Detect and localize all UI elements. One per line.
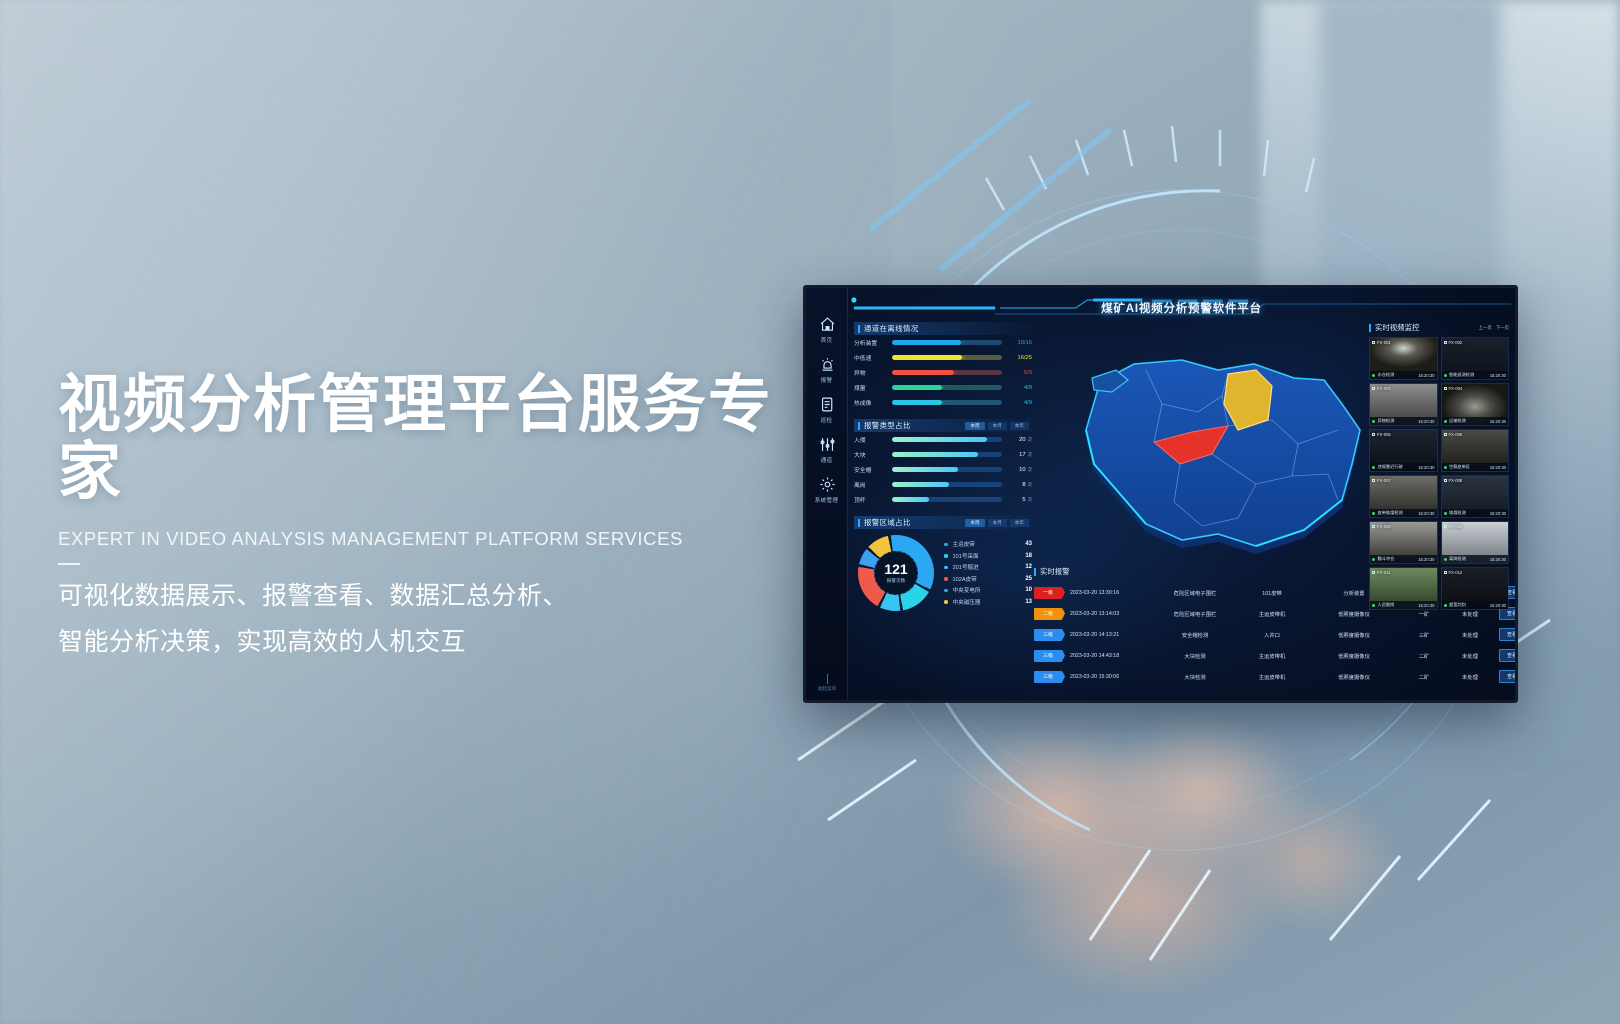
sidebar-label-home: 首页 [806,336,847,344]
realtime-alarm-title: 实时报警 [1040,566,1070,577]
legend-item: 中央磁压器 13 [944,596,1032,608]
sidebar-label-alarm: 报警 [806,376,847,384]
video-camera-id: FX-010 [1444,524,1463,529]
legend-label: 102A皮带 [953,575,1026,583]
table-row[interactable]: 三级 2023-03-20 15:30:06 大块检测 主运皮带机 低照度摄像仪… [1034,666,1515,687]
video-grid: FX-001 水仓检测 15:20:30 FX-002 智能巡测检测 15:20… [1369,337,1509,610]
table-row[interactable]: 三级 2023-03-20 14:43:18 大块检测 主运皮带机 低照度摄像仪… [1034,645,1515,666]
range-tab-本年[interactable]: 本年 [1010,519,1029,527]
video-tile-footer: 智能巡测检测 15:20:30 [1442,371,1509,379]
alarm-type-label: 大块 [854,450,892,459]
video-tile-name: 离岗检测 [1449,556,1466,562]
channel-bar-label: 分析装置 [854,338,892,347]
donut-center: 121 报警次数 [874,551,918,595]
dashboard-monitor: 首页 报警 巡检 通道 [803,285,1518,703]
channel-bar-fill [892,400,942,405]
video-tile-time: 15:20:30 [1490,511,1506,516]
legend-value: 43 [1025,541,1032,547]
video-panel-title: 实时视频监控 [1375,322,1419,333]
sidebar-item-inspection[interactable]: 巡检 [806,394,847,424]
alarm-type-bar-list: 入侵 20次 大块 17次 安全帽 10次 离岗 8次 顶杆 5次 [854,432,1032,507]
video-tile-time: 15:20:30 [1418,557,1434,562]
channel-icon [806,434,848,454]
gear-icon [806,474,848,494]
video-panel-header: 实时视频监控 上一页 下一页 [1369,322,1509,333]
alarm-mine: 二矿 [1400,673,1448,681]
video-tile-footer: 翻斗冲仓 15:20:30 [1370,555,1437,563]
video-tile-footer: 离岗检测 15:20:30 [1442,555,1509,563]
video-tile-footer: 违规靠近行驶 15:20:30 [1370,463,1437,471]
range-tab-本月[interactable]: 本月 [988,422,1007,430]
channel-bar-row: 煤量 4/9 [854,380,1032,395]
alarm-level-badge: 二级 [1034,608,1062,620]
channel-bar-fill [892,340,961,345]
channel-bar-track [892,370,1002,375]
sidebar-item-alarm[interactable]: 报警 [806,354,847,384]
video-tile-time: 15:20:30 [1418,603,1434,608]
alarm-status: 未处理 [1448,631,1492,639]
alarm-location: 入井口 [1236,631,1308,639]
alarm-type-value: 5次 [1002,497,1032,503]
dashboard-left-column: 通道在离线情况 分析装置 10/16 中低速 16/25 异物 5/9 煤量 [854,322,1032,620]
view-button[interactable]: 查看 [1499,628,1515,641]
collapse-icon [827,674,828,684]
legend-label: 中央磁压器 [953,598,1026,606]
video-camera-id: FX-007 [1372,478,1391,483]
video-tile-footer: 超宽判别 15:20:30 [1442,601,1509,609]
video-tile[interactable]: FX-002 智能巡测检测 15:20:30 [1441,337,1510,380]
video-tile[interactable]: FX-004 运输检测 15:20:30 [1441,383,1510,426]
alarm-type-value: 10次 [1002,467,1032,473]
header-tick-icon [1369,324,1371,332]
video-tile-name: 智能巡测检测 [1449,372,1474,378]
alarm-type-track [892,497,1002,502]
page-title: 视频分析管理平台服务专家 [58,372,818,506]
alarm-device: 低照度摄像仪 [1308,652,1400,660]
video-tile-time: 15:20:30 [1418,465,1434,470]
channel-bar-track [892,400,1002,405]
alarm-action-cell: 查看 [1492,670,1515,683]
legend-label: 中央变电所 [953,586,1026,594]
legend-color-dot [944,600,948,604]
channel-bar-row: 异物 5/9 [854,365,1032,380]
alarm-type-label: 顶杆 [854,495,892,504]
legend-item: 101号采面 18 [944,550,1032,562]
status-dot-icon [1444,420,1447,423]
channel-bar-track [892,385,1002,390]
video-camera-id: FX-008 [1444,478,1463,483]
alarm-mine: 三矿 [1400,631,1448,639]
alarm-location: 主运皮带机 [1236,673,1308,681]
home-icon [806,314,848,334]
channel-bar-label: 异物 [854,368,892,377]
alarm-time: 2023-03-20 14:43:18 [1070,653,1154,659]
video-next-page[interactable]: 下一页 [1496,325,1509,331]
status-dot-icon [1444,512,1447,515]
status-dot-icon [1444,604,1447,607]
channel-card-header: 通道在离线情况 [854,322,1032,335]
alarm-time: 2023-03-20 14:13:21 [1070,632,1154,638]
donut-total-label: 报警次数 [887,578,905,584]
alarm-type-fill [892,497,929,502]
channel-bar-value: 16/25 [1002,355,1032,361]
video-tile-time: 15:20:30 [1418,373,1434,378]
channel-bar-fill [892,370,954,375]
video-camera-id: FX-011 [1372,570,1390,575]
video-tile[interactable]: FX-010 离岗检测 15:20:30 [1441,521,1510,564]
video-tile[interactable]: FX-006 空载皮带区 15:20:30 [1441,429,1510,472]
header-tick-icon [858,519,860,527]
range-tab-本月[interactable]: 本月 [988,519,1007,527]
legend-label: 主运皮带 [953,540,1026,548]
video-tile-name: 异物检测 [1378,418,1395,424]
alarm-location: 101皮带 [1236,589,1308,597]
alarm-type-value: 20次 [1002,437,1032,443]
channel-bar-value: 4/9 [1002,385,1032,391]
video-tile-name: 皮带堆煤检测 [1378,510,1403,516]
legend-value: 18 [1025,553,1032,559]
status-dot-icon [1444,558,1447,561]
alarm-type-fill [892,482,949,487]
channel-card-title: 通道在离线情况 [864,323,919,334]
video-tile-time: 15:20:30 [1490,373,1506,378]
sidebar-label-inspection: 巡检 [806,416,847,424]
video-tile[interactable]: FX-007 皮带堆煤检测 15:20:30 [1369,475,1438,518]
video-camera-id: FX-004 [1444,386,1463,391]
channel-bar-row: 热成像 4/9 [854,395,1032,410]
hero-description-line-1: 可视化数据展示、报警查看、数据汇总分析、 [58,573,818,619]
alarm-type-value: 17次 [1002,452,1032,458]
video-camera-id: FX-012 [1444,570,1463,575]
legend-color-dot [944,554,948,558]
hero-subtitle: EXPERT IN VIDEO ANALYSIS MANAGEMENT PLAT… [58,528,818,550]
map-svg [1038,328,1378,558]
video-tile[interactable]: FX-001 水仓检测 15:20:30 [1369,337,1438,380]
alarm-level-badge: 三级 [1034,650,1062,662]
status-dot-icon [1372,558,1375,561]
legend-color-dot [944,543,948,547]
video-tile-name: 超宽判别 [1449,602,1466,608]
legend-color-dot [944,577,948,581]
video-camera-id: FX-001 [1372,340,1391,345]
alarm-time: 2023-03-20 15:30:06 [1070,674,1154,680]
alarm-area-card-title: 报警区域占比 [864,517,911,528]
hero-description: 可视化数据展示、报警查看、数据汇总分析、 智能分析决策，实现高效的人机交互 [58,573,818,666]
status-dot-icon [1444,466,1447,469]
alarm-type-card-header: 报警类型占比 本周本月本年 [854,419,1032,432]
region-map[interactable] [1038,328,1378,558]
inspection-icon [806,394,848,414]
legend-color-dot [944,589,948,593]
alarm-action-cell: 查看 [1492,649,1515,662]
video-tile-footer: 空载皮带区 15:20:30 [1442,463,1509,471]
channel-bar-label: 煤量 [854,383,892,392]
channel-bar-value: 4/9 [1002,400,1032,406]
legend-item: 主运皮带 43 [944,539,1032,551]
sidebar-item-system[interactable]: 系统管理 [806,474,847,504]
video-prev-page[interactable]: 上一页 [1479,325,1492,331]
dashboard-screen: 首页 报警 巡检 通道 [806,288,1515,700]
alarm-type-value: 8次 [1002,482,1032,488]
legend-item: 102A皮带 25 [944,573,1032,585]
video-tile-name: 人员脱岗 [1378,602,1395,608]
alarm-time: 2023-03-20 13:30:16 [1070,590,1154,596]
channel-status-card: 通道在离线情况 分析装置 10/16 中低速 16/25 异物 5/9 煤量 [854,322,1032,410]
channel-bar-value: 5/9 [1002,370,1032,376]
alarm-action-cell: 查看 [1492,628,1515,641]
video-tile[interactable]: FX-008 堆煤检测 15:20:30 [1441,475,1510,518]
video-tile-time: 15:20:30 [1490,465,1506,470]
video-tile-footer: 皮带堆煤检测 15:20:30 [1370,509,1437,517]
alarm-mine: 一矿 [1400,610,1448,618]
channel-bar-fill [892,355,962,360]
video-tile[interactable]: FX-005 违规靠近行驶 15:20:30 [1369,429,1438,472]
background-hand [880,690,1440,1020]
legend-item: 中央变电所 10 [944,585,1032,597]
header-tick-icon [858,325,860,333]
video-tile-time: 15:20:30 [1418,419,1434,424]
alarm-type-row: 顶杆 5次 [854,492,1032,507]
video-tile-footer: 水仓检测 15:20:30 [1370,371,1437,379]
alarm-type-row: 离岗 8次 [854,477,1032,492]
dashboard-sidebar: 首页 报警 巡检 通道 [806,288,848,700]
hero-divider [58,563,80,565]
alarm-type-label: 入侵 [854,435,892,444]
alarm-area-card: 报警区域占比 本周本月本年 121 报警次数 主运皮带 43 101号采面 [854,516,1032,611]
video-camera-id: FX-002 [1444,340,1463,345]
alarm-event: 大块检测 [1154,673,1236,681]
video-tile[interactable]: FX-011 人员脱岗 15:20:30 [1369,567,1438,610]
alarm-type-fill [892,452,978,457]
realtime-video-panel: 实时视频监控 上一页 下一页 FX-001 水仓检测 15:20:30 FX-0… [1369,322,1509,610]
alarm-time: 2023-03-20 13:14:03 [1070,611,1154,617]
alarm-level-badge: 三级 [1034,671,1062,683]
alarm-event: 危险区域电子围栏 [1154,610,1236,618]
alarm-area-donut-section: 121 报警次数 主运皮带 43 101号采面 18 201号掘进 12 102… [854,529,1032,611]
channel-bar-label: 中低速 [854,353,892,362]
alarm-icon [806,354,848,374]
status-dot-icon [1372,604,1375,607]
alarm-device: 低照度摄像仪 [1308,610,1400,618]
video-camera-id: FX-005 [1372,432,1391,437]
legend-value: 10 [1025,587,1032,593]
video-pagination[interactable]: 上一页 下一页 [1479,325,1509,331]
alarm-event: 安全帽检测 [1154,631,1236,639]
sidebar-item-home[interactable]: 首页 [806,314,847,344]
status-dot-icon [1372,512,1375,515]
alarm-type-track [892,437,1002,442]
alarm-type-track [892,452,1002,457]
video-tile-footer: 异物检测 15:20:30 [1370,417,1437,425]
alarm-device: 低照度摄像仪 [1308,673,1400,681]
legend-value: 13 [1025,599,1032,605]
video-tile-time: 15:20:30 [1418,511,1434,516]
alarm-area-card-header: 报警区域占比 本周本月本年 [854,516,1032,529]
video-tile-time: 15:20:30 [1490,603,1506,608]
legend-item: 201号掘进 12 [944,562,1032,574]
alarm-location: 主运皮带机 [1236,652,1308,660]
video-tile-name: 空载皮带区 [1449,464,1470,470]
sidebar-item-channel[interactable]: 通道 [806,434,847,464]
alarm-mine: 二矿 [1400,652,1448,660]
video-tile-footer: 运输检测 15:20:30 [1442,417,1509,425]
sidebar-collapse-label: 收起菜单 [806,686,848,692]
video-camera-id: FX-009 [1372,524,1391,529]
video-tile-name: 堆煤检测 [1449,510,1466,516]
sidebar-label-channel: 通道 [806,456,847,464]
header-tick-icon [858,422,860,430]
video-tile[interactable]: FX-003 异物检测 15:20:30 [1369,383,1438,426]
alarm-event: 大块检测 [1154,652,1236,660]
range-tab-本周[interactable]: 本周 [965,519,984,527]
alarm-status: 未处理 [1448,652,1492,660]
channel-bar-track [892,340,1002,345]
alarm-type-card: 报警类型占比 本周本月本年 入侵 20次 大块 17次 安全帽 10次 离岗 8… [854,419,1032,507]
donut-legend: 主运皮带 43 101号采面 18 201号掘进 12 102A皮带 25 中央… [944,539,1032,608]
legend-value: 12 [1025,564,1032,570]
alarm-type-card-title: 报警类型占比 [864,420,911,431]
status-dot-icon [1444,374,1447,377]
alarm-event: 危险区域电子围栏 [1154,589,1236,597]
alarm-level-badge: 三级 [1034,629,1062,641]
alarm-area-range-tabs[interactable]: 本周本月本年 [965,519,1032,527]
dashboard-title: 煤矿AI视频分析预警软件平台 [848,300,1515,316]
video-tile-name: 违规靠近行驶 [1378,464,1403,470]
channel-bar-row: 中低速 16/25 [854,350,1032,365]
video-tile-name: 运输检测 [1449,418,1466,424]
range-tab-本周[interactable]: 本周 [965,422,984,430]
video-tile-time: 15:20:30 [1490,419,1506,424]
donut-chart[interactable]: 121 报警次数 [858,535,934,611]
alarm-type-label: 安全帽 [854,465,892,474]
legend-label: 201号掘进 [953,563,1026,571]
video-tile[interactable]: FX-012 超宽判别 15:20:30 [1441,567,1510,610]
view-button[interactable]: 查看 [1499,649,1515,662]
legend-color-dot [944,566,948,570]
alarm-status: 未处理 [1448,610,1492,618]
status-dot-icon [1372,374,1375,377]
video-tile-name: 水仓检测 [1378,372,1395,378]
view-button[interactable]: 查看 [1499,670,1515,683]
video-tile[interactable]: FX-009 翻斗冲仓 15:20:30 [1369,521,1438,564]
hero-description-line-2: 智能分析决策，实现高效的人机交互 [58,619,818,665]
alarm-type-range-tabs[interactable]: 本周本月本年 [965,422,1032,430]
alarm-status: 未处理 [1448,673,1492,681]
video-tile-name: 翻斗冲仓 [1378,556,1395,562]
header-tick-icon [1034,568,1036,576]
channel-bar-fill [892,385,942,390]
sidebar-collapse-button[interactable]: 收起菜单 [806,674,848,692]
alarm-type-fill [892,437,987,442]
dashboard-header-hud: 煤矿AI视频分析预警软件平台 [848,294,1515,320]
alarm-type-label: 离岗 [854,480,892,489]
donut-total-value: 121 [884,562,907,576]
video-tile-footer: 人员脱岗 15:20:30 [1370,601,1437,609]
legend-value: 25 [1025,576,1032,582]
alarm-type-row: 大块 17次 [854,447,1032,462]
hero-section: 视频分析管理平台服务专家 EXPERT IN VIDEO ANALYSIS MA… [58,372,818,665]
video-camera-id: FX-006 [1444,432,1463,437]
channel-bar-label: 热成像 [854,398,892,407]
video-tile-footer: 堆煤检测 15:20:30 [1442,509,1509,517]
channel-bar-value: 10/16 [1002,340,1032,346]
alarm-type-fill [892,467,958,472]
status-dot-icon [1372,466,1375,469]
alarm-type-track [892,482,1002,487]
alarm-type-row: 安全帽 10次 [854,462,1032,477]
alarm-level-badge: 一级 [1034,587,1062,599]
sidebar-label-system: 系统管理 [806,496,847,504]
legend-label: 101号采面 [953,552,1026,560]
video-camera-id: FX-003 [1372,386,1391,391]
channel-bar-track [892,355,1002,360]
status-dot-icon [1372,420,1375,423]
table-row[interactable]: 三级 2023-03-20 14:13:21 安全帽检测 入井口 低照度摄像仪 … [1034,624,1515,645]
alarm-location: 主运皮带机 [1236,610,1308,618]
alarm-device: 低照度摄像仪 [1308,631,1400,639]
range-tab-本年[interactable]: 本年 [1010,422,1029,430]
alarm-type-track [892,467,1002,472]
video-tile-time: 15:20:30 [1490,557,1506,562]
alarm-type-row: 入侵 20次 [854,432,1032,447]
channel-bar-list: 分析装置 10/16 中低速 16/25 异物 5/9 煤量 4/9 热成像 [854,335,1032,410]
channel-bar-row: 分析装置 10/16 [854,335,1032,350]
